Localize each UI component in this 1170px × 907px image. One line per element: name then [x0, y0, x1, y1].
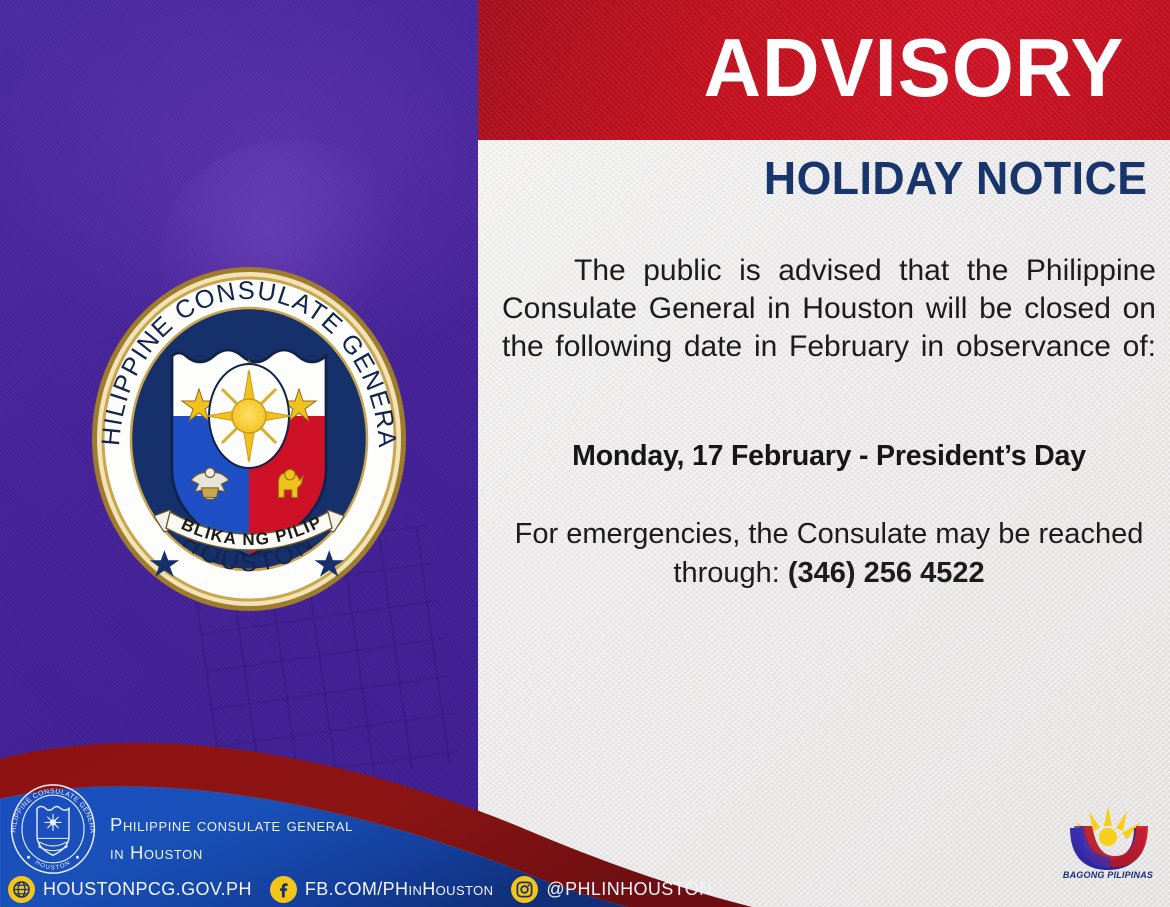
instagram-icon — [511, 876, 538, 903]
footer-seal: PHILIPPINE CONSULATE GENERAL HOUSTON — [6, 782, 100, 876]
footer-org-name: Philippine consulate general in Houston — [110, 811, 440, 867]
emergency-contact: For emergencies, the Consulate may be re… — [502, 515, 1156, 592]
page-subtitle: HOLIDAY NOTICE — [764, 155, 1148, 201]
bagong-sun-core — [1099, 828, 1117, 846]
facebook-label: FB.COM/PHinHouston — [305, 879, 494, 900]
footer-org-line1: Philippine consulate general — [110, 811, 440, 839]
website-label: HOUSTONPCG.GOV.PH — [43, 879, 252, 900]
globe-icon — [8, 876, 35, 903]
bagong-pilipinas-logo: BAGONG PILIPINAS — [1056, 804, 1160, 880]
advisory-poster: PHILIPPINE CONSULATE GENERAL HOUSTON — [0, 0, 1170, 907]
emergency-phone-number[interactable]: (346) 256 4522 — [788, 557, 985, 589]
social-link-instagram[interactable]: @PHLINHOUSTON — [511, 876, 712, 903]
footer-wave — [0, 677, 1170, 907]
closure-date: Monday, 17 February - President’s Day — [502, 440, 1156, 473]
advisory-body-text: The public is advised that the Philippin… — [502, 252, 1156, 404]
bagong-pilipinas-label: BAGONG PILIPINAS — [1063, 870, 1153, 880]
consulate-seal: PHILIPPINE CONSULATE GENERAL HOUSTON — [84, 264, 414, 614]
svg-text:HOUSTON: HOUSTON — [34, 860, 72, 872]
facebook-icon — [270, 876, 297, 903]
footer-org-line2: in Houston — [110, 839, 440, 867]
footer-social-row: HOUSTONPCG.GOV.PH FB.COM/PHinHouston @PH… — [8, 874, 731, 904]
instagram-label: @PHLINHOUSTON — [546, 879, 712, 900]
social-link-website[interactable]: HOUSTONPCG.GOV.PH — [8, 876, 252, 903]
social-link-facebook[interactable]: FB.COM/PHinHouston — [270, 876, 494, 903]
svg-text:PHILIPPINE CONSULATE GENERAL: PHILIPPINE CONSULATE GENERAL — [6, 782, 96, 834]
page-title: ADVISORY — [703, 26, 1124, 109]
